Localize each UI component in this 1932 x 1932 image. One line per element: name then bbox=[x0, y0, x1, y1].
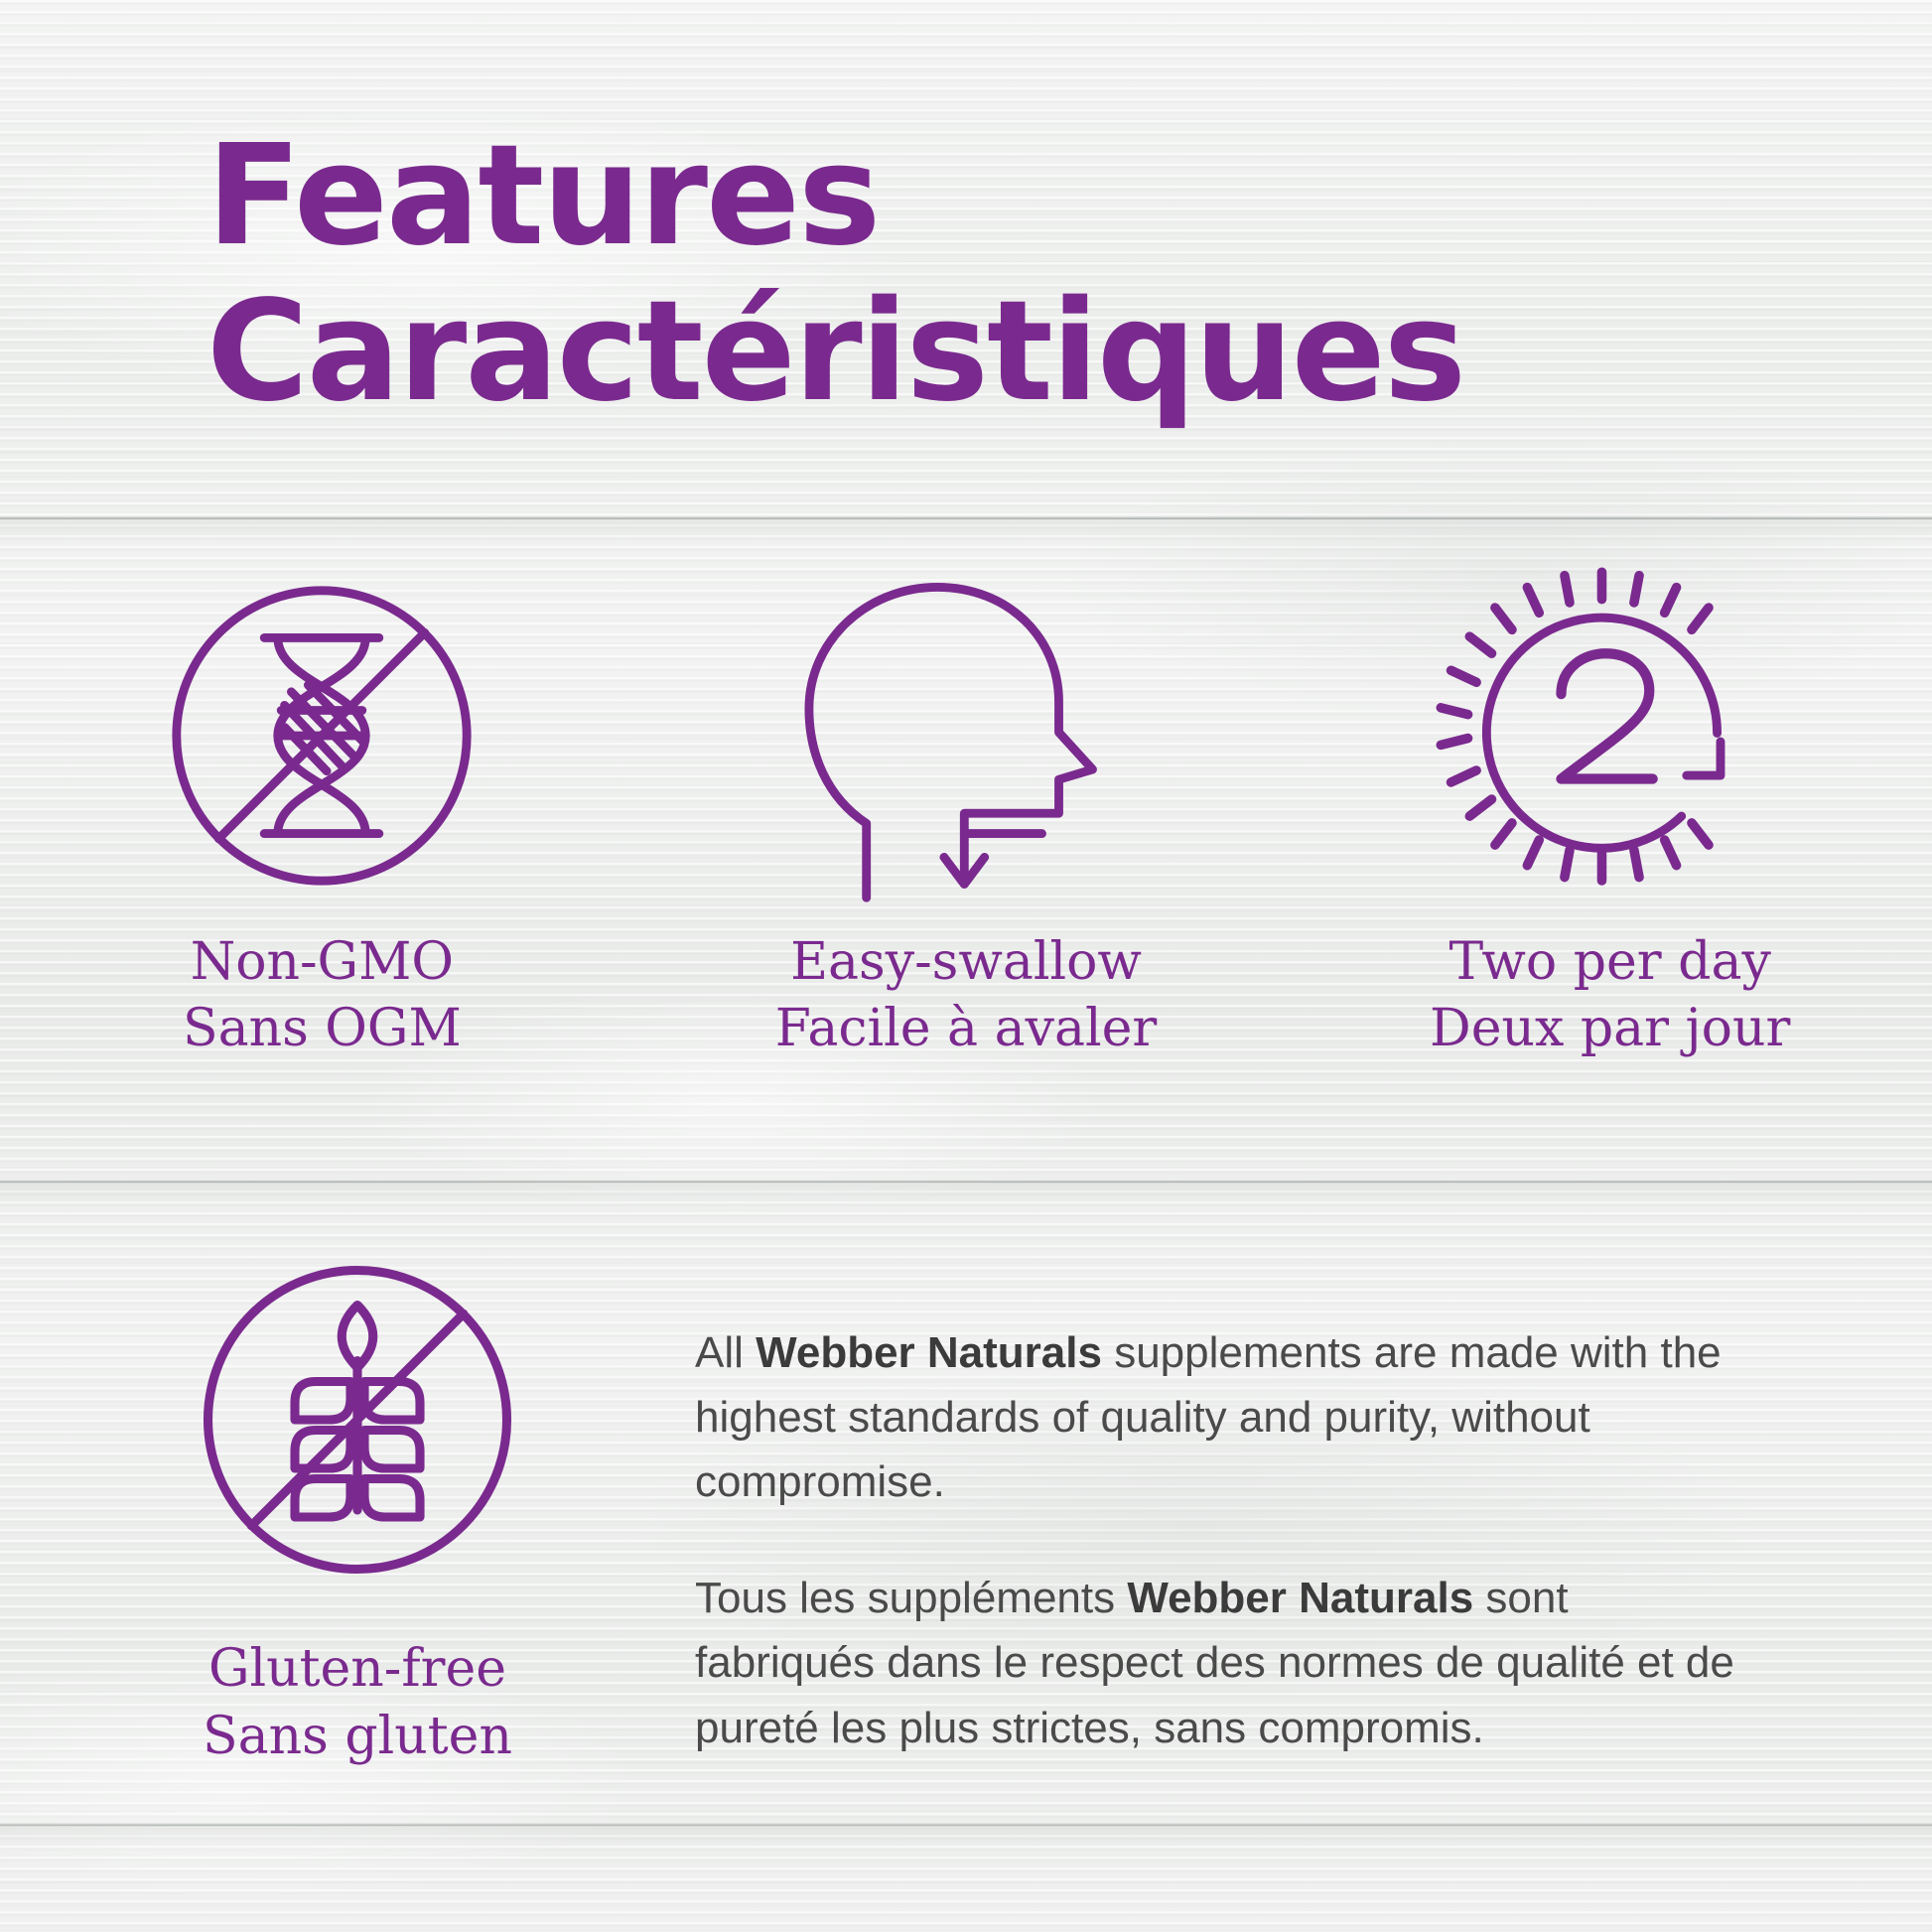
feature-gluten-free: Gluten-free Sans gluten bbox=[0, 1231, 695, 1770]
feature-label-fr: Facile à avaler bbox=[775, 996, 1157, 1062]
no-gmo-dna-icon bbox=[153, 552, 490, 919]
features-row: Non-GMO Sans OGM Easy-swallow Facile à a… bbox=[0, 552, 1932, 1148]
gluten-free-label-en: Gluten-free bbox=[203, 1636, 512, 1704]
paragraph-french: Tous les suppléments Webber Naturals son… bbox=[695, 1566, 1737, 1759]
feature-caption: Easy-swallow Facile à avaler bbox=[775, 929, 1157, 1061]
easy-swallow-head-icon bbox=[787, 552, 1145, 919]
page-title-french: Caractéristiques bbox=[207, 275, 1696, 431]
plank-seam-shadow-middle bbox=[0, 1184, 1932, 1206]
brand-name-fr: Webber Naturals bbox=[1127, 1574, 1473, 1622]
gluten-free-caption: Gluten-free Sans gluten bbox=[203, 1636, 512, 1770]
feature-label-fr: Sans OGM bbox=[183, 996, 462, 1062]
plank-seam-shadow-top bbox=[0, 521, 1932, 543]
description-block: All Webber Naturals supplements are made… bbox=[695, 1231, 1932, 1760]
page-title-english: Features bbox=[207, 119, 1696, 275]
gluten-free-wheat-icon bbox=[184, 1231, 531, 1608]
feature-label-fr: Deux par jour bbox=[1430, 996, 1790, 1062]
feature-label-en: Two per day bbox=[1430, 929, 1790, 996]
plank-seam-shadow-bottom bbox=[0, 1828, 1932, 1850]
features-infographic: Features Caractéristiques bbox=[0, 0, 1932, 1932]
feature-label-en: Non-GMO bbox=[183, 929, 462, 996]
paragraph-english: All Webber Naturals supplements are made… bbox=[695, 1320, 1737, 1514]
gluten-free-label-fr: Sans gluten bbox=[203, 1704, 512, 1771]
page-title: Features Caractéristiques bbox=[207, 119, 1696, 431]
paragraph-en-before: All bbox=[695, 1328, 756, 1377]
brand-name-en: Webber Naturals bbox=[756, 1328, 1102, 1377]
feature-label-en: Easy-swallow bbox=[775, 929, 1157, 996]
feature-caption: Two per day Deux par jour bbox=[1430, 929, 1790, 1061]
bottom-section: Gluten-free Sans gluten All Webber Natur… bbox=[0, 1231, 1932, 1770]
feature-caption: Non-GMO Sans OGM bbox=[183, 929, 462, 1061]
paragraph-fr-before: Tous les suppléments bbox=[695, 1574, 1127, 1622]
feature-easy-swallow: Easy-swallow Facile à avaler bbox=[644, 552, 1289, 1148]
two-per-day-icon bbox=[1432, 552, 1789, 919]
feature-two-per-day: Two per day Deux par jour bbox=[1288, 552, 1932, 1148]
feature-non-gmo: Non-GMO Sans OGM bbox=[0, 552, 644, 1148]
